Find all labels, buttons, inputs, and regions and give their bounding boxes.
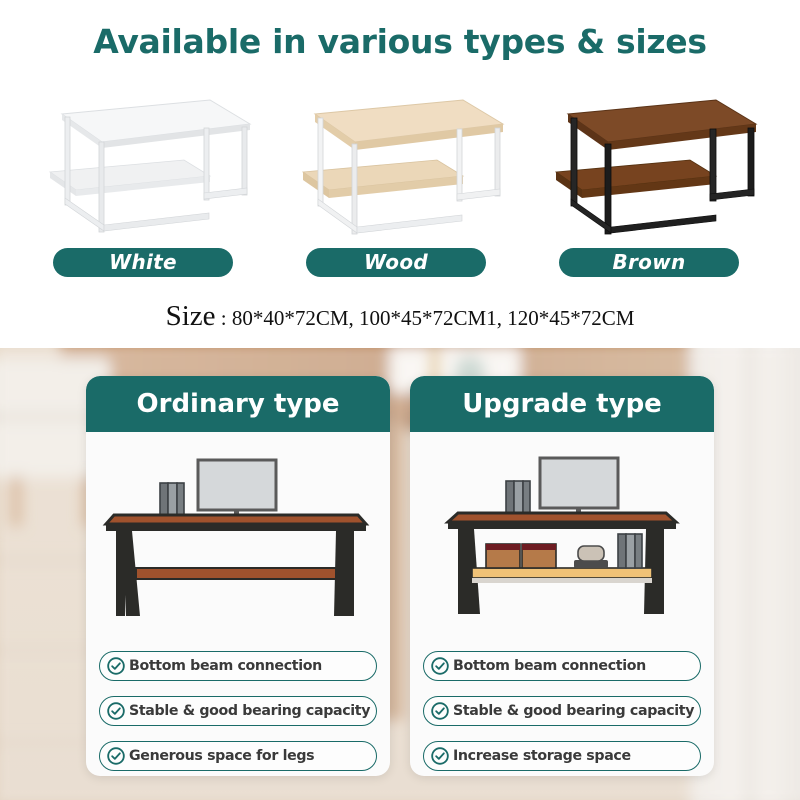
size-line: Size : 80*40*72CM, 100*45*72CM1, 120*45*… (0, 300, 800, 333)
check-circle-icon (430, 746, 450, 766)
panel-upgrade: Upgrade type (410, 376, 714, 776)
panel-title-ordinary: Ordinary type (86, 376, 390, 432)
size-word: Size (166, 300, 216, 332)
feature-list-upgrade: Bottom beam connection Stable & good bea… (423, 651, 701, 776)
page-title: Available in various types & sizes (0, 22, 800, 61)
desk-brown-icon (520, 80, 786, 240)
variant-brown[interactable]: Brown (520, 80, 786, 290)
variant-label-white: White (53, 248, 233, 277)
desk-ordinary-icon (90, 438, 386, 643)
size-separator: : (216, 306, 232, 330)
feature-item[interactable]: Bottom beam connection (423, 651, 701, 681)
desk-wood-icon (267, 80, 533, 240)
desk-upgrade-icon (414, 438, 710, 643)
check-circle-icon (430, 656, 450, 676)
feature-label: Bottom beam connection (453, 658, 646, 674)
variants-section: Available in various types & sizes (0, 0, 800, 348)
feature-label: Stable & good bearing capacity (129, 703, 370, 719)
panel-title-upgrade: Upgrade type (410, 376, 714, 432)
variant-label-wood: Wood (306, 248, 486, 277)
feature-item[interactable]: Stable & good bearing capacity (423, 696, 701, 726)
feature-item[interactable]: Increase storage space (423, 741, 701, 771)
feature-item[interactable]: Bottom beam connection (99, 651, 377, 681)
feature-list-ordinary: Bottom beam connection Stable & good bea… (99, 651, 377, 776)
desk-white-icon (14, 80, 280, 240)
feature-label: Stable & good bearing capacity (453, 703, 694, 719)
check-circle-icon (430, 701, 450, 721)
feature-label: Increase storage space (453, 748, 631, 764)
panel-ordinary: Ordinary type (86, 376, 390, 776)
variant-list: White Woo (0, 80, 800, 290)
check-circle-icon (106, 656, 126, 676)
feature-item[interactable]: Generous space for legs (99, 741, 377, 771)
feature-label: Generous space for legs (129, 748, 314, 764)
feature-label: Bottom beam connection (129, 658, 322, 674)
check-circle-icon (106, 746, 126, 766)
check-circle-icon (106, 701, 126, 721)
size-value: 80*40*72CM, 100*45*72CM1, 120*45*72CM (232, 306, 635, 330)
variant-white[interactable]: White (14, 80, 280, 290)
variant-wood[interactable]: Wood (267, 80, 533, 290)
variant-label-brown: Brown (559, 248, 739, 277)
feature-item[interactable]: Stable & good bearing capacity (99, 696, 377, 726)
product-infographic: Available in various types & sizes (0, 0, 800, 800)
comparison-section: Ordinary type (0, 348, 800, 800)
